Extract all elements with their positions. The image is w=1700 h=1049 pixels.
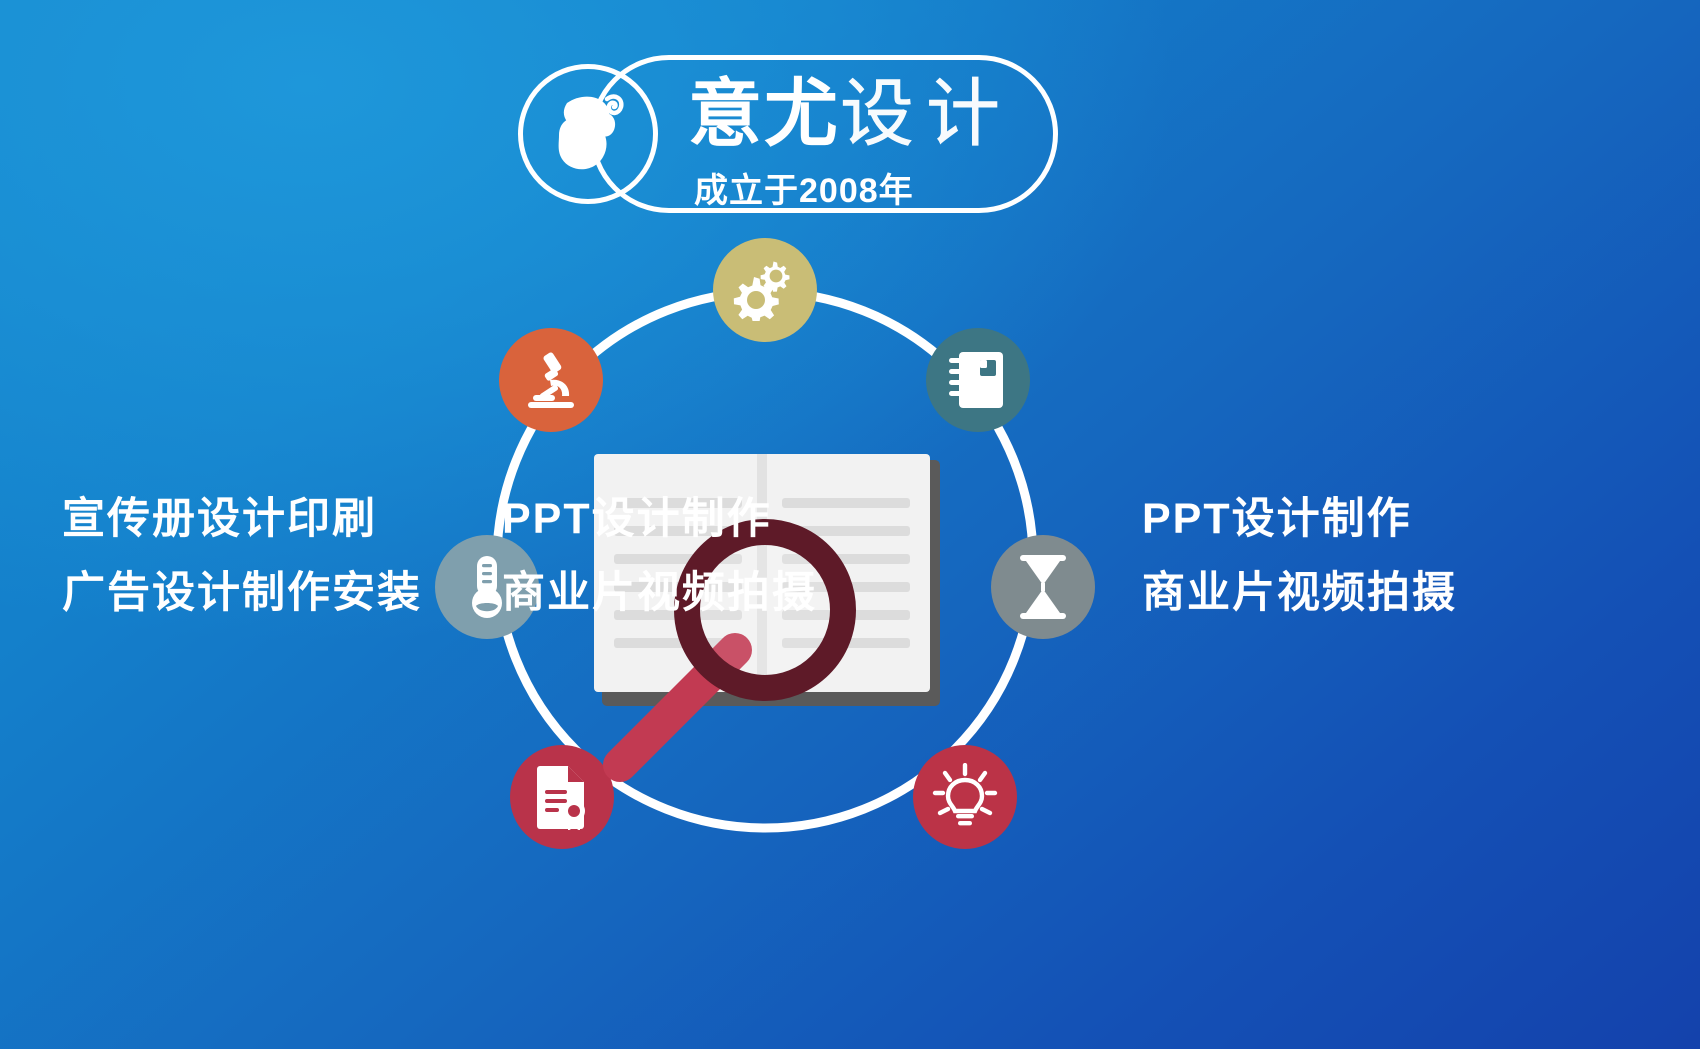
gear-icon — [732, 259, 798, 321]
brand-logo: 意尤设计 成立于2008年 — [518, 55, 1068, 215]
notebook-icon — [949, 349, 1007, 411]
node-gear[interactable] — [713, 238, 817, 342]
brand-name-bold: 意尤 — [688, 72, 840, 155]
text-block-left: 宣传册设计印刷 广告设计制作安装 — [62, 482, 422, 630]
microscope-icon — [520, 349, 582, 411]
node-lightbulb[interactable] — [913, 745, 1017, 849]
node-notebook[interactable] — [926, 328, 1030, 432]
text-left-line1: 宣传册设计印刷 — [62, 482, 422, 556]
brand-tagline: 成立于2008年 — [694, 163, 914, 212]
brand-name-light: 设计 — [840, 72, 1012, 155]
slide-canvas: 意尤设计 成立于2008年 — [0, 0, 1700, 1049]
text-block-center: PPT设计制作 商业片视频拍摄 — [502, 482, 817, 630]
node-hourglass[interactable] — [991, 535, 1095, 639]
text-right-line2: 商业片视频拍摄 — [1142, 556, 1457, 630]
text-right-line1: PPT设计制作 — [1142, 482, 1457, 556]
text-block-right: PPT设计制作 商业片视频拍摄 — [1142, 482, 1457, 630]
text-center-line2: 商业片视频拍摄 — [502, 556, 817, 630]
hourglass-icon — [1017, 555, 1069, 619]
peacock-emblem-icon — [518, 64, 658, 204]
text-left-line2: 广告设计制作安装 — [62, 556, 422, 630]
text-center-line1: PPT设计制作 — [502, 482, 817, 556]
node-microscope[interactable] — [499, 328, 603, 432]
lightbulb-icon — [931, 763, 999, 831]
brand-name: 意尤设计 — [688, 77, 1012, 151]
